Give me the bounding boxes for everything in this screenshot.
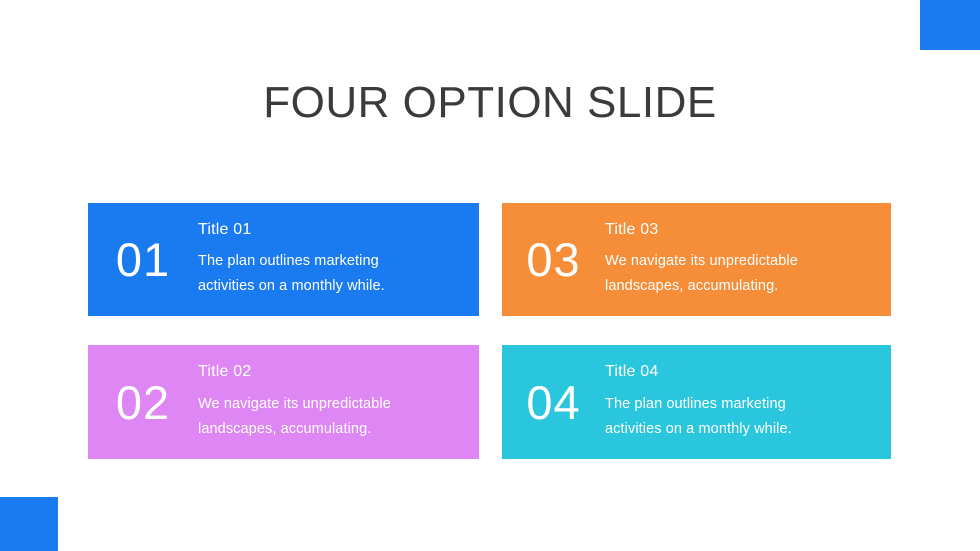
option-card-03[interactable]: 03 Title 03 We navigate its unpredictabl…	[502, 203, 891, 316]
option-number: 02	[88, 379, 198, 426]
option-description: We navigate its unpredictable landscapes…	[605, 249, 877, 299]
option-body: Title 02 We navigate its unpredictable l…	[198, 362, 479, 442]
option-card-04[interactable]: 04 Title 04 The plan outlines marketing …	[502, 345, 891, 459]
decorative-rectangle-top-right	[920, 0, 980, 50]
slide-canvas: FOUR OPTION SLIDE 01 Title 01 The plan o…	[0, 0, 980, 551]
option-body: Title 04 The plan outlines marketing act…	[605, 362, 891, 442]
option-description: We navigate its unpredictable landscapes…	[198, 392, 465, 442]
option-description: The plan outlines marketing activities o…	[198, 249, 465, 299]
option-body: Title 01 The plan outlines marketing act…	[198, 220, 479, 300]
option-body: Title 03 We navigate its unpredictable l…	[605, 220, 891, 300]
option-title: Title 02	[198, 362, 465, 383]
option-number: 01	[88, 236, 198, 283]
option-number: 04	[502, 379, 605, 426]
option-title: Title 01	[198, 220, 465, 241]
option-number: 03	[502, 236, 605, 283]
option-card-01[interactable]: 01 Title 01 The plan outlines marketing …	[88, 203, 479, 316]
option-title: Title 03	[605, 220, 877, 241]
decorative-rectangle-bottom-left	[0, 497, 58, 551]
option-description: The plan outlines marketing activities o…	[605, 392, 877, 442]
option-title: Title 04	[605, 362, 877, 383]
page-title: FOUR OPTION SLIDE	[0, 78, 980, 128]
option-card-02[interactable]: 02 Title 02 We navigate its unpredictabl…	[88, 345, 479, 459]
